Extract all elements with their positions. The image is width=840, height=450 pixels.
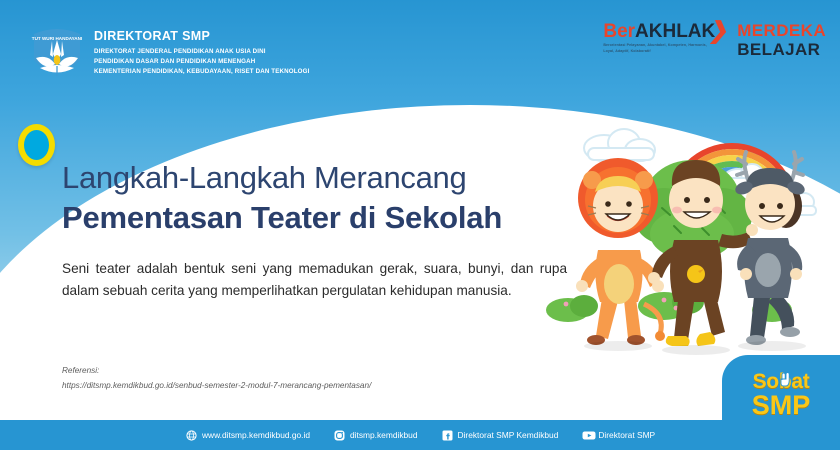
footer-item-website[interactable]: www.ditsmp.kemdikbud.go.id [186, 430, 310, 441]
globe-icon [186, 430, 197, 441]
poster-canvas: TUT WURI HANDAYANI DIREKTORAT SMP DIREKT… [0, 0, 840, 450]
title-line-1: Langkah-Langkah Merancang [62, 160, 466, 196]
reference-url[interactable]: https://ditsmp.kemdikbud.go.id/senbud-se… [62, 378, 371, 393]
footer-bar: www.ditsmp.kemdikbud.go.id ditsmp.kemdik… [0, 420, 840, 450]
footer-item-instagram[interactable]: ditsmp.kemdikbud [334, 430, 418, 441]
footer-label-facebook: Direktorat SMP Kemdikbud [458, 430, 559, 440]
footer-label-instagram: ditsmp.kemdikbud [350, 430, 418, 440]
footer-label-youtube: Direktorat SMP [598, 430, 655, 440]
hand-peace-icon [779, 373, 792, 389]
body-paragraph: Seni teater adalah bentuk seni yang mema… [62, 258, 567, 302]
instagram-icon [334, 430, 345, 441]
poster-content: Langkah-Langkah Merancang Pementasan Tea… [0, 0, 840, 450]
reference-label: Referensi: [62, 363, 371, 378]
title-line-2: Pementasan Teater di Sekolah [62, 200, 502, 236]
footer-item-youtube[interactable]: Direktorat SMP [582, 430, 655, 441]
reference-block: Referensi: https://ditsmp.kemdikbud.go.i… [62, 363, 371, 393]
footer-label-website: www.ditsmp.kemdikbud.go.id [202, 430, 310, 440]
footer-item-facebook[interactable]: Direktorat SMP Kemdikbud [442, 430, 559, 441]
smp-word: SMP [722, 393, 840, 419]
youtube-icon [582, 430, 593, 441]
facebook-icon [442, 430, 453, 441]
